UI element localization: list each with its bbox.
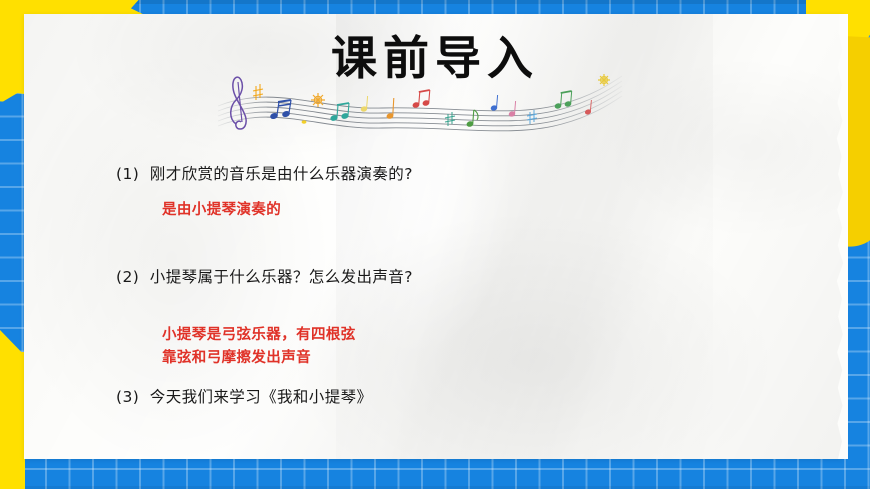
- treble-clef-icon: [231, 77, 246, 129]
- yellow-dot-icon: [302, 120, 307, 124]
- music-staff-icon: [212, 62, 624, 138]
- answer-1: 是由小提琴演奏的: [162, 198, 676, 219]
- yellow-shape-bottom-left: [0, 352, 25, 489]
- lightblue-sharp-icon: [527, 110, 537, 124]
- red-small-note-icon: [585, 100, 591, 115]
- green-note-group-icon: [555, 91, 572, 109]
- orange-tall-note-icon: [386, 98, 393, 119]
- orange-note-icon: [311, 93, 325, 107]
- answer-2-line-1: 小提琴是弓弦乐器，有四根弦: [162, 323, 676, 344]
- content-body: (1) 刚才欣赏的音乐是由什么乐器演奏的? 是由小提琴演奏的 (2) 小提琴属于…: [116, 162, 676, 407]
- question-1: (1) 刚才欣赏的音乐是由什么乐器演奏的?: [116, 162, 676, 184]
- question-3: (3) 今天我们来学习《我和小提琴》: [116, 385, 676, 407]
- pale-note-icon: [361, 96, 368, 112]
- answer-2-line-2: 靠弦和弓摩擦发出声音: [162, 346, 676, 367]
- red-note-group-icon: [412, 90, 429, 108]
- blue-flag-note-icon: [491, 95, 498, 111]
- slide-root: 课前导入: [0, 0, 870, 489]
- question-2: (2) 小提琴属于什么乐器？怎么发出声音?: [116, 265, 676, 287]
- green-note-icon: [466, 110, 478, 127]
- yellow-star-note-icon: [598, 74, 610, 86]
- pink-note-icon: [509, 101, 516, 117]
